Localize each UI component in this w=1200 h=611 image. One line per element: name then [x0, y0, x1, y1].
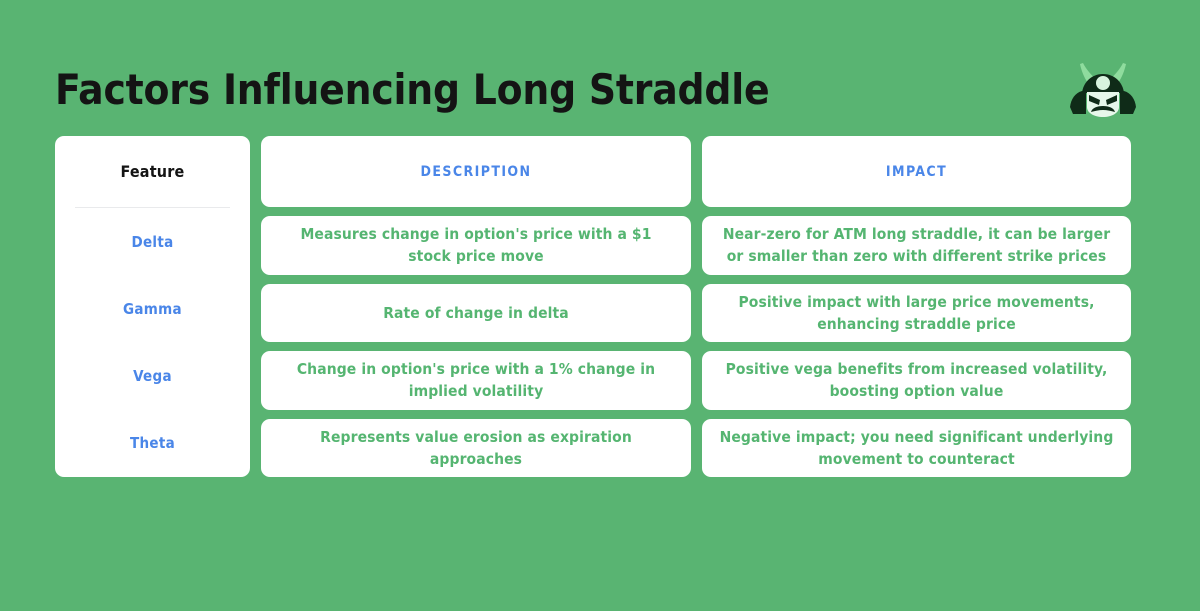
- impact-cell-delta: Near-zero for ATM long straddle, it can …: [702, 216, 1131, 275]
- description-cell-delta: Measures change in option's price with a…: [261, 216, 691, 275]
- feature-cell-list: Delta Gamma Vega Theta: [55, 208, 250, 477]
- description-text-theta: Represents value erosion as expiration a…: [277, 426, 675, 470]
- slide-root: Factors Influencing Long Straddle: [0, 0, 1200, 611]
- table-column-feature: Feature Delta Gamma Vega Theta: [55, 136, 250, 477]
- feature-cell-gamma: Gamma: [55, 275, 250, 342]
- column-header-description-label: DESCRIPTION: [421, 164, 532, 180]
- feature-cell-delta: Delta: [55, 208, 250, 275]
- table-column-impact: IMPACT Near-zero for ATM long straddle, …: [702, 136, 1131, 477]
- description-text-delta: Measures change in option's price with a…: [277, 223, 675, 267]
- column-header-impact: IMPACT: [702, 136, 1131, 207]
- factors-table: Feature Delta Gamma Vega Theta DESCRIPTI…: [55, 136, 1131, 477]
- impact-text-gamma: Positive impact with large price movemen…: [718, 291, 1115, 335]
- column-header-feature: Feature: [55, 136, 250, 207]
- slide-header: Factors Influencing Long Straddle: [0, 0, 1200, 136]
- impact-cell-gamma: Positive impact with large price movemen…: [702, 284, 1131, 343]
- description-text-vega: Change in option's price with a 1% chang…: [277, 358, 675, 402]
- column-header-description: DESCRIPTION: [261, 136, 691, 207]
- impact-cell-vega: Positive vega benefits from increased vo…: [702, 351, 1131, 410]
- samurai-helmet-logo-icon: [1070, 62, 1136, 118]
- feature-cell-vega: Vega: [55, 343, 250, 410]
- impact-text-theta: Negative impact; you need significant un…: [718, 426, 1115, 470]
- column-header-impact-label: IMPACT: [886, 164, 947, 180]
- impact-text-vega: Positive vega benefits from increased vo…: [718, 358, 1115, 402]
- page-title: Factors Influencing Long Straddle: [55, 62, 769, 118]
- table-column-description: DESCRIPTION Measures change in option's …: [261, 136, 691, 477]
- feature-cell-theta: Theta: [55, 410, 250, 477]
- description-cell-theta: Represents value erosion as expiration a…: [261, 419, 691, 478]
- description-text-gamma: Rate of change in delta: [383, 302, 569, 324]
- impact-cell-theta: Negative impact; you need significant un…: [702, 419, 1131, 478]
- description-cell-vega: Change in option's price with a 1% chang…: [261, 351, 691, 410]
- description-cell-gamma: Rate of change in delta: [261, 284, 691, 343]
- impact-text-delta: Near-zero for ATM long straddle, it can …: [718, 223, 1115, 267]
